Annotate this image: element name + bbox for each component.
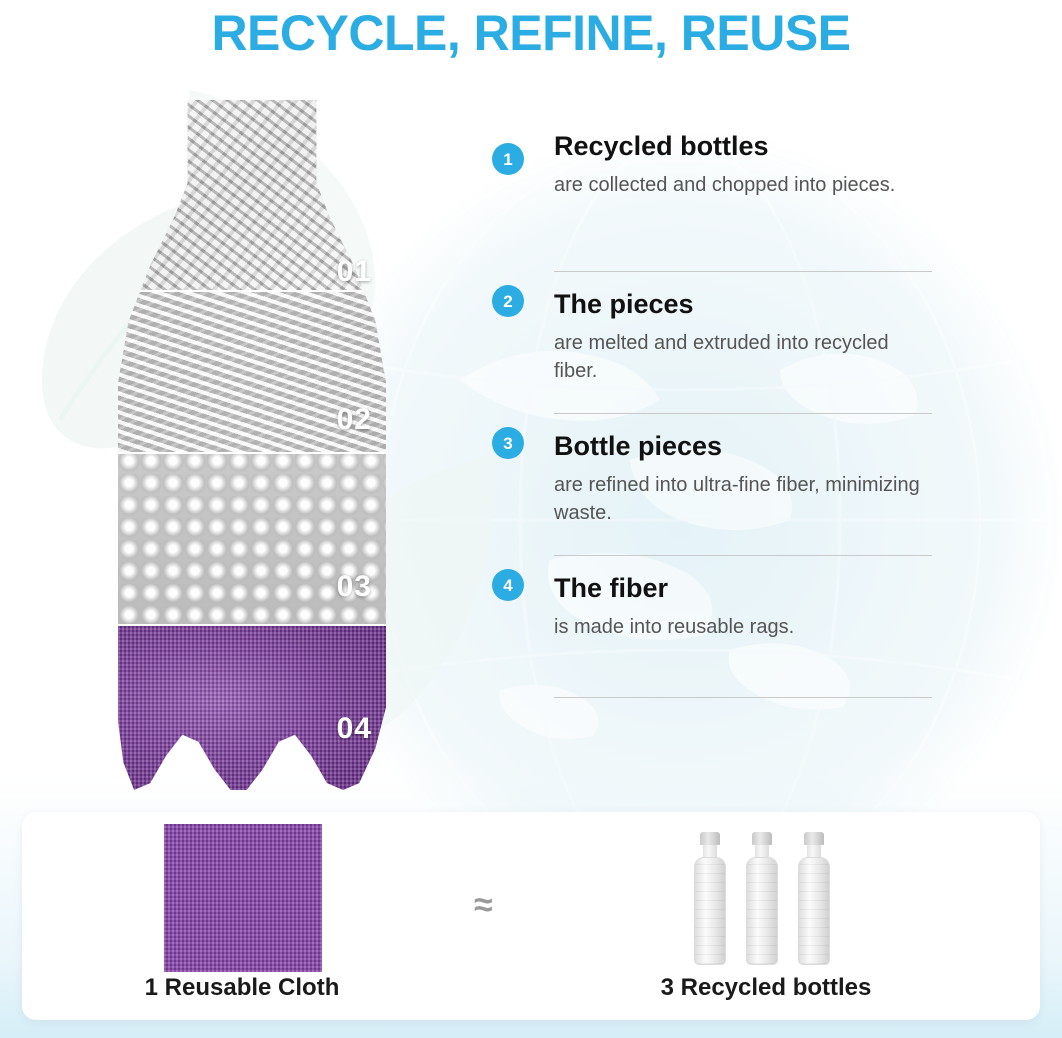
step-number-badge-3: 3 — [492, 427, 524, 459]
segment-divider — [118, 452, 386, 454]
step-heading-3: Bottle pieces — [554, 430, 932, 464]
mini-bottle-icon — [742, 832, 782, 966]
step-heading-1: Recycled bottles — [554, 130, 932, 164]
bottle-segment-label-04: 04 — [337, 712, 372, 746]
step-number-badge-2: 2 — [492, 285, 524, 317]
segment-divider — [118, 290, 386, 292]
bottle-diagram: 01 02 03 04 — [118, 100, 386, 790]
bottle-segment-label-01: 01 — [337, 255, 372, 289]
bottle-segment-label-02: 02 — [337, 403, 372, 437]
step-item-3: 3 Bottle pieces are refined into ultra-f… — [492, 414, 932, 556]
step-description-4: is made into reusable rags. — [554, 613, 932, 641]
comparison-panel: ≈ 1 Reusable Cloth 3 Recycled bottles — [22, 812, 1040, 1020]
approximately-equal-icon: ≈ — [474, 886, 493, 925]
bottle-segment-04 — [118, 624, 386, 790]
step-item-2: 2 The pieces are melted and extruded int… — [492, 272, 932, 414]
comparison-right-label: 3 Recycled bottles — [546, 974, 986, 1002]
step-heading-2: The pieces — [554, 288, 932, 322]
mini-bottle-icon — [794, 832, 834, 966]
step-heading-4: The fiber — [554, 572, 932, 606]
page-title: RECYCLE, REFINE, REUSE — [0, 4, 1062, 62]
step-description-3: are refined into ultra-fine fiber, minim… — [554, 471, 932, 528]
bottle-cap-icon — [752, 832, 772, 845]
step-number-badge-4: 4 — [492, 569, 524, 601]
step-item-4: 4 The fiber is made into reusable rags. — [492, 556, 932, 698]
bottle-cap-icon — [804, 832, 824, 845]
segment-divider — [118, 624, 386, 626]
bottle-body — [746, 857, 778, 965]
step-divider — [554, 697, 932, 698]
reusable-cloth-swatch — [164, 824, 322, 972]
step-description-1: are collected and chopped into pieces. — [554, 171, 932, 199]
bottle-body — [694, 857, 726, 965]
steps-list: 1 Recycled bottles are collected and cho… — [492, 130, 932, 698]
infographic-page: RECYCLE, REFINE, REUSE 01 02 03 04 1 Rec… — [0, 0, 1062, 1038]
bottle-cap-icon — [700, 832, 720, 845]
comparison-left-label: 1 Reusable Cloth — [22, 974, 462, 1002]
bottle-segment-label-03: 03 — [337, 570, 372, 604]
bottle-silhouette — [118, 100, 386, 790]
recycled-bottles-group — [690, 826, 850, 972]
step-number-badge-1: 1 — [492, 143, 524, 175]
mini-bottle-icon — [690, 832, 730, 966]
step-item-1: 1 Recycled bottles are collected and cho… — [492, 130, 932, 272]
step-description-2: are melted and extruded into recycled fi… — [554, 329, 932, 386]
bottle-body — [798, 857, 830, 965]
